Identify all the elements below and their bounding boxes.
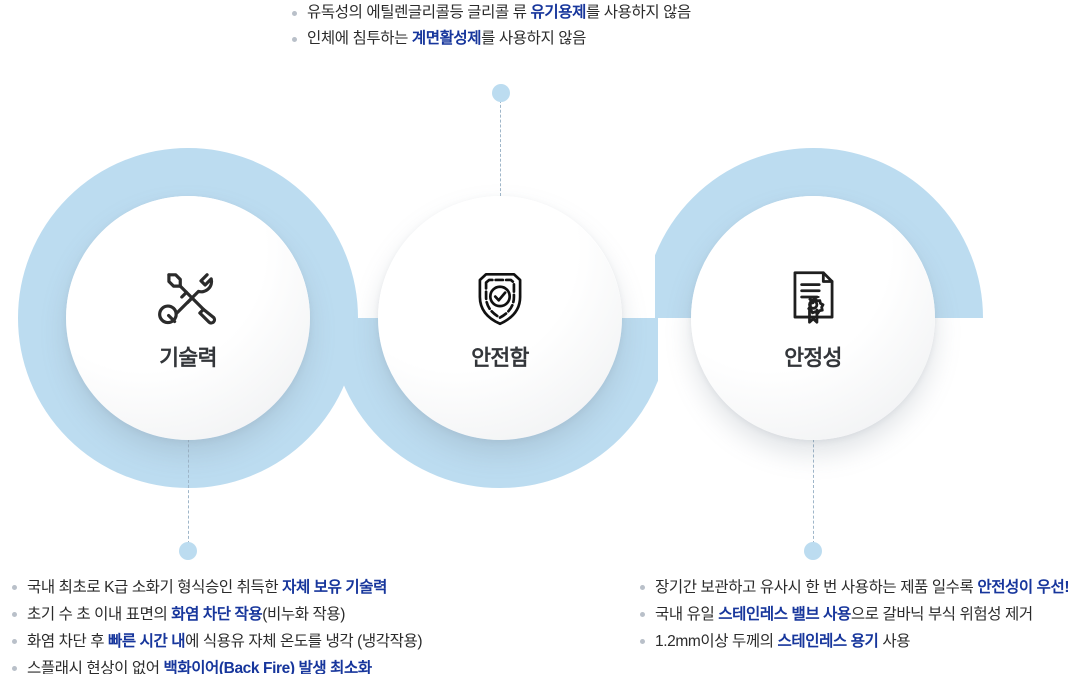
bullet-dot-icon: [12, 639, 17, 644]
bottom-left-bullet-item-text: 국내 최초로 K급 소화기 형식승인 취득한 자체 보유 기술력: [27, 574, 387, 601]
bullet-dot-icon: [12, 612, 17, 617]
bottom-right-bullet-item-text: 장기간 보관하고 유사시 한 번 사용하는 제품 일수록 안전성이 우선!: [655, 574, 1068, 601]
connector-line-bottom-left: [188, 424, 189, 544]
shield-check-icon: [467, 265, 533, 331]
top-bullet-item-text: 인체에 침투하는 계면활성제를 사용하지 않음: [307, 26, 586, 52]
node-card-stability[interactable]: 안정성: [691, 196, 935, 440]
bullet-dot-icon: [12, 666, 17, 671]
node-card-technology[interactable]: 기술력: [66, 196, 310, 440]
bullet-dot-icon: [292, 11, 297, 16]
bottom-right-bullet-item: 1.2mm이상 두께의 스테인레스 용기 사용: [640, 628, 1068, 655]
node-label: 안전함: [471, 341, 529, 372]
bottom-right-bullet-item: 장기간 보관하고 유사시 한 번 사용하는 제품 일수록 안전성이 우선!: [640, 574, 1068, 601]
bottom-left-bullet-list: 국내 최초로 K급 소화기 형식승인 취득한 자체 보유 기술력초기 수 초 이…: [12, 574, 632, 674]
node-card-safety[interactable]: 안전함: [378, 196, 622, 440]
infographic-root: 유독성의 에틸렌글리콜등 글리콜 류 유기용제를 사용하지 않음인체에 침투하는…: [0, 0, 1068, 674]
bullet-dot-icon: [12, 585, 17, 590]
top-bullet-item: 유독성의 에틸렌글리콜등 글리콜 류 유기용제를 사용하지 않음: [292, 0, 932, 26]
bottom-left-bullet-item: 화염 차단 후 빠른 시간 내에 식용유 자체 온도를 냉각 (냉각작용): [12, 628, 632, 655]
bottom-left-bullet-item: 스플래시 현상이 없어 백화이어(Back Fire) 발생 최소화: [12, 655, 632, 674]
top-bullet-item-text: 유독성의 에틸렌글리콜등 글리콜 류 유기용제를 사용하지 않음: [307, 0, 691, 26]
connector-dot-bottom-left: [179, 542, 197, 560]
node-label: 기술력: [159, 341, 217, 372]
bullet-dot-icon: [640, 639, 645, 644]
connector-dot-top: [492, 84, 510, 102]
bottom-left-bullet-item: 초기 수 초 이내 표면의 화염 차단 작용(비누화 작용): [12, 601, 632, 628]
bottom-right-bullet-list: 장기간 보관하고 유사시 한 번 사용하는 제품 일수록 안전성이 우선!국내 …: [640, 574, 1068, 655]
top-bullet-item: 인체에 침투하는 계면활성제를 사용하지 않음: [292, 26, 932, 52]
bottom-left-bullet-item-text: 초기 수 초 이내 표면의 화염 차단 작용(비누화 작용): [27, 601, 345, 628]
connector-dot-bottom-right: [804, 542, 822, 560]
node-label: 안정성: [784, 341, 842, 372]
bottom-left-bullet-item: 국내 최초로 K급 소화기 형식승인 취득한 자체 보유 기술력: [12, 574, 632, 601]
bottom-right-bullet-item-text: 국내 유일 스테인레스 밸브 사용으로 갈바닉 부식 위험성 제거: [655, 601, 1033, 628]
connector-line-bottom-right: [813, 424, 814, 544]
crossed-tools-icon: [155, 265, 221, 331]
bottom-right-bullet-item-text: 1.2mm이상 두께의 스테인레스 용기 사용: [655, 628, 910, 655]
bottom-left-bullet-item-text: 스플래시 현상이 없어 백화이어(Back Fire) 발생 최소화: [27, 655, 372, 674]
bullet-dot-icon: [640, 612, 645, 617]
connector-line-top: [500, 100, 501, 196]
bottom-left-bullet-item-text: 화염 차단 후 빠른 시간 내에 식용유 자체 온도를 냉각 (냉각작용): [27, 628, 422, 655]
bullet-dot-icon: [640, 585, 645, 590]
certificate-seal-icon: [780, 265, 846, 331]
bottom-right-bullet-item: 국내 유일 스테인레스 밸브 사용으로 갈바닉 부식 위험성 제거: [640, 601, 1068, 628]
top-bullet-list: 유독성의 에틸렌글리콜등 글리콜 류 유기용제를 사용하지 않음인체에 침투하는…: [292, 0, 932, 52]
bullet-dot-icon: [292, 37, 297, 42]
